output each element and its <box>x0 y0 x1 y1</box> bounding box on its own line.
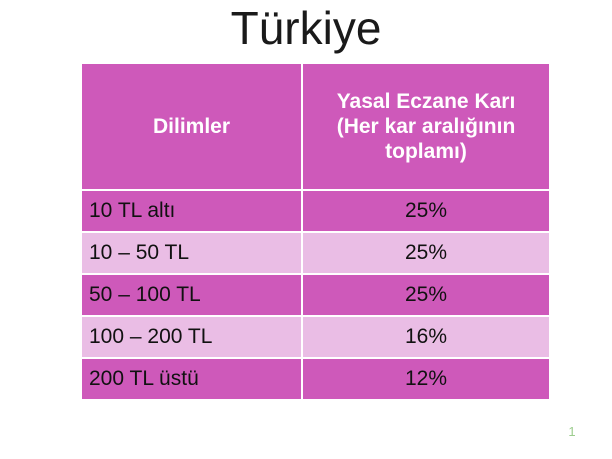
column-header-dilimler-text: Dilimler <box>82 90 301 163</box>
cell-yasal-eczane-kari-text: 25% <box>405 283 447 306</box>
cell-yasal-eczane-kari-text: 25% <box>405 199 447 222</box>
pricing-table: Dilimler Yasal Eczane Karı (Her kar aral… <box>82 64 549 399</box>
cell-dilimler-text: 10 – 50 TL <box>82 241 189 264</box>
table-row: 10 TL altı 25% <box>82 191 549 233</box>
column-header-dilimler: Dilimler <box>82 64 303 191</box>
column-header-yasal-eczane-kari-text: Yasal Eczane Karı (Her kar aralığının to… <box>303 65 549 188</box>
column-header-yasal-eczane-kari-line-2: (Her kar aralığının <box>303 114 549 139</box>
cell-yasal-eczane-kari: 25% <box>303 275 549 317</box>
cell-yasal-eczane-kari-text: 12% <box>405 367 447 390</box>
table-row: 10 – 50 TL 25% <box>82 233 549 275</box>
column-header-dilimler-line-1: Dilimler <box>82 114 301 139</box>
slide-canvas: Türkiye Dilimler Yasal Eczane Karı <box>0 0 612 459</box>
cell-dilimler-text: 200 TL üstü <box>82 367 199 390</box>
cell-dilimler: 50 – 100 TL <box>82 275 303 317</box>
table-header: Dilimler Yasal Eczane Karı (Her kar aral… <box>82 64 549 191</box>
cell-dilimler: 200 TL üstü <box>82 359 303 399</box>
cell-yasal-eczane-kari: 12% <box>303 359 549 399</box>
cell-dilimler: 100 – 200 TL <box>82 317 303 359</box>
table-row: 100 – 200 TL 16% <box>82 317 549 359</box>
cell-yasal-eczane-kari-text: 16% <box>405 325 447 348</box>
table-row: 50 – 100 TL 25% <box>82 275 549 317</box>
cell-dilimler: 10 TL altı <box>82 191 303 233</box>
slide-number: 1 <box>560 424 584 440</box>
table-body: 10 TL altı 25% 10 – 50 TL 25% <box>82 191 549 399</box>
cell-yasal-eczane-kari-text: 25% <box>405 241 447 264</box>
column-header-yasal-eczane-kari-line-3: toplamı) <box>303 139 549 164</box>
cell-yasal-eczane-kari: 25% <box>303 233 549 275</box>
column-header-yasal-eczane-kari-line-1: Yasal Eczane Karı <box>303 89 549 114</box>
pricing-table-container: Dilimler Yasal Eczane Karı (Her kar aral… <box>82 64 549 383</box>
cell-yasal-eczane-kari: 25% <box>303 191 549 233</box>
cell-dilimler-text: 100 – 200 TL <box>82 325 212 348</box>
cell-dilimler-text: 10 TL altı <box>82 199 175 222</box>
column-header-yasal-eczane-kari: Yasal Eczane Karı (Her kar aralığının to… <box>303 64 549 191</box>
cell-yasal-eczane-kari: 16% <box>303 317 549 359</box>
cell-dilimler: 10 – 50 TL <box>82 233 303 275</box>
page-title: Türkiye <box>0 1 612 55</box>
table-row: 200 TL üstü 12% <box>82 359 549 399</box>
table-header-row: Dilimler Yasal Eczane Karı (Her kar aral… <box>82 64 549 191</box>
cell-dilimler-text: 50 – 100 TL <box>82 283 201 306</box>
